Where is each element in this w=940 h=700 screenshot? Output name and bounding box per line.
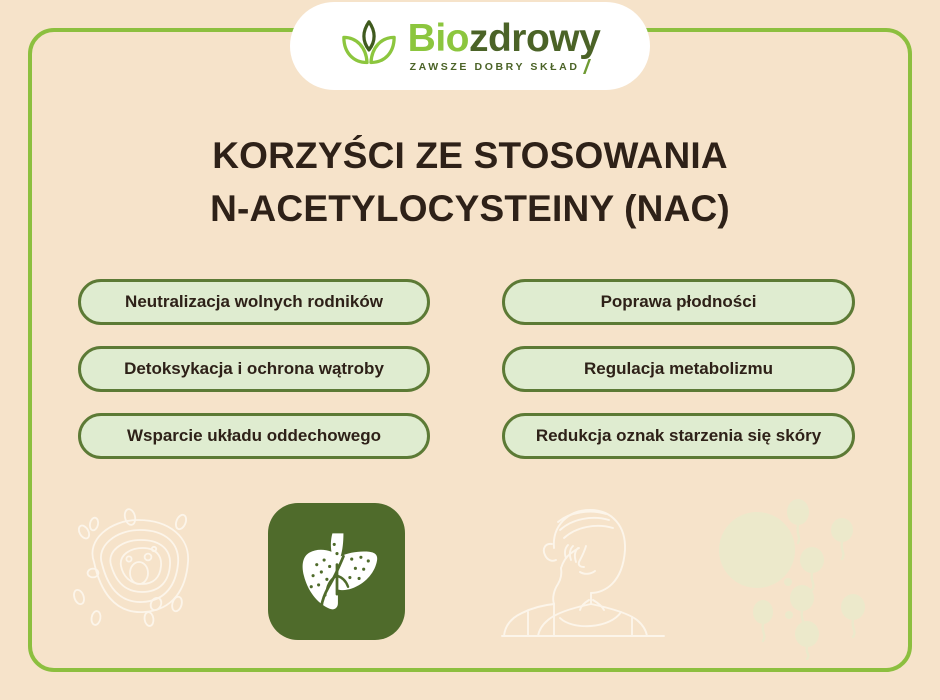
liver-icon	[291, 526, 383, 618]
benefit-pill-left-2: Detoksykacja i ochrona wątroby	[78, 346, 430, 392]
three-leaves-icon	[340, 18, 398, 76]
tagline-row: ZAWSZE DOBRY SKŁAD	[410, 59, 592, 74]
woman-face-profile-icon	[492, 500, 672, 640]
page-title-line-2: N-ACETYLOCYSTEINY (NAC)	[0, 183, 940, 236]
liver-icon-tile	[268, 503, 405, 640]
benefit-pill-right-2: Regulacja metabolizmu	[502, 346, 855, 392]
benefit-pill-right-3: Redukcja oznak starzenia się skóry	[502, 413, 855, 459]
cell-outline-icon	[58, 500, 234, 650]
page-title-line-1: KORZYŚCI ZE STOSOWANIA	[0, 130, 940, 183]
wordmark-zdrowy: zdrowy	[469, 17, 600, 60]
ovum-and-sperm-icon	[700, 495, 900, 660]
wordmark-bio: Bio	[408, 17, 469, 60]
infographic-canvas: Biozdrowy ZAWSZE DOBRY SKŁAD KORZYŚCI ZE…	[0, 0, 940, 700]
benefit-pill-left-1: Neutralizacja wolnych rodników	[78, 279, 430, 325]
benefit-pill-left-3: Wsparcie układu oddechowego	[78, 413, 430, 459]
brand-wordmark-group: Biozdrowy ZAWSZE DOBRY SKŁAD	[408, 20, 601, 74]
page-title: KORZYŚCI ZE STOSOWANIA N-ACETYLOCYSTEINY…	[0, 130, 940, 235]
brand-tagline: ZAWSZE DOBRY SKŁAD	[410, 61, 580, 73]
brand-wordmark: Biozdrowy	[408, 20, 601, 58]
slash-icon	[583, 59, 592, 74]
brand-logo-badge: Biozdrowy ZAWSZE DOBRY SKŁAD	[290, 2, 650, 90]
benefit-pill-right-1: Poprawa płodności	[502, 279, 855, 325]
